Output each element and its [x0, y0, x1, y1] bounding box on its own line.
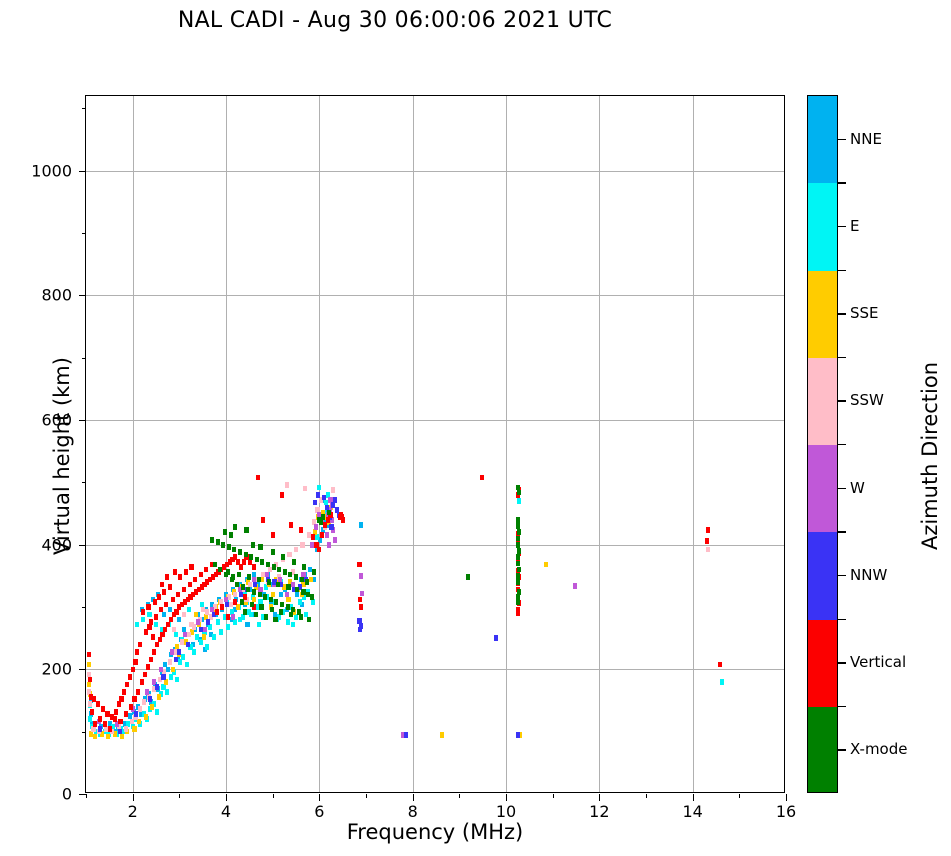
colorbar-segment-x-mode	[808, 707, 837, 793]
data-point-sse	[93, 734, 97, 740]
data-point-x-mode	[292, 559, 296, 565]
data-point-vertical	[199, 572, 203, 578]
data-point-x-mode	[241, 584, 245, 590]
data-point-ssw	[303, 486, 307, 492]
data-point-vertical	[105, 711, 109, 717]
data-point-vertical	[193, 577, 197, 583]
data-point-x-mode	[244, 527, 248, 533]
data-point-vertical	[480, 475, 484, 481]
data-point-w	[159, 667, 163, 673]
data-point-vertical	[140, 679, 144, 685]
data-point-x-mode	[264, 614, 268, 620]
data-point-nne	[177, 617, 181, 623]
data-point-x-mode	[232, 547, 236, 553]
data-point-w	[231, 614, 235, 620]
data-point-nnw	[206, 619, 210, 625]
colorbar-tick	[838, 662, 846, 663]
data-point-sse	[190, 629, 194, 635]
data-point-vertical	[178, 574, 182, 580]
data-point-e	[720, 679, 724, 685]
data-point-vertical	[138, 642, 142, 648]
data-point-ssw	[285, 482, 289, 488]
data-point-nne	[359, 522, 363, 528]
data-point-e	[291, 622, 295, 628]
data-point-ssw	[130, 719, 134, 725]
data-point-w	[183, 632, 187, 638]
data-point-nnw	[516, 732, 520, 738]
x-tick	[786, 794, 787, 801]
x-tick-minor	[553, 794, 554, 798]
data-point-x-mode	[246, 587, 250, 593]
data-point-vertical	[705, 538, 709, 544]
data-point-e	[219, 629, 223, 635]
data-point-x-mode	[233, 524, 237, 530]
x-tick-minor	[86, 794, 87, 798]
data-point-vertical	[93, 721, 97, 727]
colorbar-label-nne: NNE	[850, 130, 882, 148]
data-point-x-mode	[250, 602, 254, 608]
data-point-sse	[157, 694, 161, 700]
data-point-x-mode	[516, 517, 520, 523]
y-tick-label: 800	[41, 286, 72, 305]
data-point-vertical	[163, 627, 167, 633]
data-point-vertical	[239, 564, 243, 570]
data-point-e	[199, 639, 203, 645]
data-point-vertical	[171, 597, 175, 603]
data-point-vertical	[149, 657, 153, 663]
y-tick	[79, 545, 86, 546]
colorbar	[807, 95, 838, 793]
data-point-w	[203, 627, 207, 633]
data-point-ssw	[300, 542, 304, 548]
data-point-nne	[245, 622, 249, 628]
data-point-vertical	[166, 622, 170, 628]
data-point-ssw	[331, 487, 335, 493]
data-point-sse	[171, 667, 175, 673]
x-tick-label: 16	[776, 802, 796, 821]
x-tick-minor	[366, 794, 367, 798]
data-point-e	[216, 619, 220, 625]
data-point-w	[145, 689, 149, 695]
data-point-vertical	[153, 599, 157, 605]
data-point-vertical	[320, 532, 324, 538]
data-point-x-mode	[238, 549, 242, 555]
data-point-sse	[144, 714, 148, 720]
colorbar-label-e: E	[850, 217, 859, 235]
data-point-vertical	[165, 574, 169, 580]
data-point-vertical	[182, 587, 186, 593]
data-point-nne	[162, 612, 166, 618]
data-point-x-mode	[517, 548, 521, 554]
data-point-sse	[260, 577, 264, 583]
data-point-ssw	[287, 552, 291, 558]
colorbar-tick	[838, 400, 846, 401]
data-point-vertical	[289, 522, 293, 528]
data-point-nnw	[177, 649, 181, 655]
data-point-w	[170, 649, 174, 655]
colorbar-tick	[838, 749, 846, 750]
data-point-x-mode	[517, 567, 521, 573]
data-point-vertical	[152, 649, 156, 655]
data-point-nne	[166, 667, 170, 673]
data-point-x-mode	[270, 607, 274, 613]
data-point-x-mode	[267, 579, 271, 585]
x-axis-title: Frequency (MHz)	[85, 820, 785, 844]
data-point-x-mode	[310, 594, 314, 600]
data-point-e	[181, 654, 185, 660]
data-point-vertical	[154, 614, 158, 620]
data-point-ssw	[294, 547, 298, 553]
data-point-x-mode	[227, 544, 231, 550]
data-point-ssw	[182, 612, 186, 618]
data-point-x-mode	[516, 573, 520, 579]
x-tick	[133, 794, 134, 801]
data-point-e	[311, 599, 315, 605]
data-point-vertical	[358, 597, 362, 603]
data-point-sse	[87, 682, 91, 688]
colorbar-segment-e	[808, 183, 837, 270]
colorbar-tick	[838, 575, 846, 576]
data-point-vertical	[96, 701, 100, 707]
data-point-vertical	[141, 609, 145, 615]
data-point-nnw	[316, 492, 320, 498]
data-point-ssw	[172, 627, 176, 633]
data-point-x-mode	[235, 582, 239, 588]
data-point-nnw	[174, 657, 178, 663]
x-tick	[599, 794, 600, 801]
data-point-x-mode	[301, 589, 305, 595]
data-point-nnw	[359, 623, 363, 629]
y-tick-label: 1000	[31, 161, 72, 180]
data-point-x-mode	[516, 536, 520, 542]
data-point-x-mode	[252, 589, 256, 595]
data-point-vertical	[147, 624, 151, 630]
data-point-x-mode	[516, 554, 520, 560]
data-point-x-mode	[223, 529, 227, 535]
data-point-ssw	[104, 726, 108, 732]
data-point-nnw	[186, 642, 190, 648]
x-tick-label: 10	[496, 802, 516, 821]
colorbar-boundary-tick	[838, 357, 846, 358]
data-point-x-mode	[300, 577, 304, 583]
x-tick-minor	[739, 794, 740, 798]
data-point-vertical	[135, 649, 139, 655]
data-point-x-mode	[244, 552, 248, 558]
ionogram-figure: NAL CADI - Aug 30 06:00:06 2021 UTC 2468…	[0, 0, 951, 856]
data-point-vertical	[215, 609, 219, 615]
data-point-x-mode	[231, 574, 235, 580]
data-point-w	[333, 537, 337, 543]
data-point-x-mode	[299, 614, 303, 620]
data-point-vertical	[261, 517, 265, 523]
data-point-w	[310, 542, 314, 548]
data-point-vertical	[132, 696, 136, 702]
data-point-w	[285, 592, 289, 598]
page-title: NAL CADI - Aug 30 06:00:06 2021 UTC	[0, 8, 790, 33]
data-point-e	[141, 617, 145, 623]
data-point-e	[257, 622, 261, 628]
colorbar-segment-w	[808, 445, 837, 532]
colorbar-segment-nne	[808, 96, 837, 183]
data-point-x-mode	[273, 617, 277, 623]
x-tick-minor	[179, 794, 180, 798]
data-point-ssw	[189, 622, 193, 628]
data-point-vertical	[299, 527, 303, 533]
data-point-vertical	[359, 604, 363, 610]
data-point-vertical	[92, 696, 96, 702]
colorbar-boundary-tick	[838, 182, 846, 183]
data-point-sse	[309, 577, 313, 583]
data-point-x-mode	[213, 562, 217, 568]
data-point-x-mode	[272, 564, 276, 570]
data-point-vertical	[143, 672, 147, 678]
y-tick-minor	[82, 732, 86, 733]
data-point-e	[169, 674, 173, 680]
colorbar-boundary-tick	[838, 619, 846, 620]
data-point-x-mode	[288, 572, 292, 578]
data-point-x-mode	[312, 569, 316, 575]
data-point-ssw	[88, 701, 92, 707]
data-point-sse	[132, 726, 136, 732]
data-point-x-mode	[516, 523, 520, 529]
data-point-x-mode	[259, 604, 263, 610]
x-tick-label: 6	[314, 802, 324, 821]
data-point-vertical	[706, 527, 710, 533]
colorbar-tick	[838, 313, 846, 314]
data-point-vertical	[317, 547, 321, 553]
data-point-vertical	[118, 719, 122, 725]
data-point-vertical	[110, 714, 114, 720]
x-tick-minor	[459, 794, 460, 798]
data-point-e	[175, 677, 179, 683]
data-point-nne	[318, 537, 322, 543]
colorbar-boundary-tick	[838, 531, 846, 532]
data-point-nnw	[253, 582, 257, 588]
data-point-e	[286, 619, 290, 625]
data-point-vertical	[125, 682, 129, 688]
data-point-vertical	[131, 667, 135, 673]
data-point-vertical	[88, 677, 92, 683]
data-point-vertical	[164, 602, 168, 608]
data-point-vertical	[133, 659, 137, 665]
data-point-nnw	[329, 524, 333, 530]
data-point-x-mode	[226, 569, 230, 575]
x-tick	[226, 794, 227, 801]
x-tick	[506, 794, 507, 801]
y-tick-minor	[82, 108, 86, 109]
colorbar-label-ssw: SSW	[850, 391, 884, 409]
data-point-x-mode	[237, 572, 241, 578]
data-point-vertical	[341, 517, 345, 523]
colorbar-tick	[838, 488, 846, 489]
data-point-nnw	[225, 602, 229, 608]
data-point-vertical	[117, 701, 121, 707]
data-point-x-mode	[277, 567, 281, 573]
data-point-vertical	[114, 709, 118, 715]
data-point-nne	[295, 592, 299, 598]
data-point-nnw	[404, 732, 408, 738]
data-point-e	[205, 644, 209, 650]
data-point-nnw	[494, 635, 498, 641]
data-point-x-mode	[243, 609, 247, 615]
data-point-sse	[202, 634, 206, 640]
data-point-sse	[236, 604, 240, 610]
data-point-vertical	[357, 562, 361, 568]
data-point-vertical	[173, 569, 177, 575]
y-axis-title: Virtual height (km)	[50, 306, 74, 606]
data-point-vertical	[169, 617, 173, 623]
data-point-vertical	[323, 522, 327, 528]
data-point-vertical	[204, 567, 208, 573]
data-point-sse	[544, 562, 548, 568]
y-tick-label: 200	[41, 660, 72, 679]
y-tick	[79, 420, 86, 421]
data-point-x-mode	[319, 519, 323, 525]
data-point-vertical	[146, 664, 150, 670]
data-point-vertical	[157, 594, 161, 600]
data-point-x-mode	[249, 554, 253, 560]
data-point-sse	[150, 704, 154, 710]
x-tick	[693, 794, 694, 801]
data-point-vertical	[174, 609, 178, 615]
data-point-e	[155, 709, 159, 715]
data-point-nnw	[322, 495, 326, 501]
data-point-e	[174, 632, 178, 638]
plot-axes-area: 24681012141602004006008001000	[85, 95, 785, 793]
data-point-ssw	[706, 547, 710, 553]
data-point-e	[178, 659, 182, 665]
data-point-e	[135, 622, 139, 628]
data-point-vertical	[160, 632, 164, 638]
data-point-ssw	[124, 726, 128, 732]
data-point-vertical	[233, 599, 237, 605]
x-tick-minor	[646, 794, 647, 798]
data-point-e	[294, 614, 298, 620]
colorbar-tick	[838, 226, 846, 227]
data-point-ssw	[187, 632, 191, 638]
data-point-w	[196, 619, 200, 625]
data-point-w	[573, 583, 577, 589]
data-point-e	[238, 617, 242, 623]
data-point-vertical	[122, 689, 126, 695]
data-point-x-mode	[218, 567, 222, 573]
data-point-x-mode	[280, 602, 284, 608]
colorbar-title: Azimuth Direction	[918, 306, 942, 606]
data-point-x-mode	[274, 599, 278, 605]
data-point-vertical	[124, 711, 128, 717]
data-point-ssw	[229, 602, 233, 608]
data-point-sse	[106, 734, 110, 740]
data-point-sse	[87, 662, 91, 668]
data-point-vertical	[516, 610, 520, 616]
data-point-vertical	[101, 706, 105, 712]
data-point-ssw	[180, 639, 184, 645]
data-point-e	[192, 649, 196, 655]
colorbar-segment-nnw	[808, 532, 837, 619]
data-point-x-mode	[327, 510, 331, 516]
data-point-e	[298, 599, 302, 605]
data-point-nnw	[199, 627, 203, 633]
data-point-vertical	[168, 584, 172, 590]
data-point-vertical	[311, 534, 315, 540]
x-tick	[413, 794, 414, 801]
y-tick	[79, 295, 86, 296]
data-point-x-mode	[247, 574, 251, 580]
data-point-vertical	[158, 637, 162, 643]
y-tick-minor	[82, 607, 86, 608]
data-point-ssw	[168, 659, 172, 665]
data-point-e	[154, 622, 158, 628]
x-tick-label: 4	[221, 802, 231, 821]
data-point-vertical	[280, 492, 284, 498]
colorbar-label-w: W	[850, 479, 865, 497]
data-point-x-mode	[263, 594, 267, 600]
y-tick-minor	[82, 233, 86, 234]
data-point-x-mode	[283, 569, 287, 575]
data-point-ssw	[233, 592, 237, 598]
data-point-x-mode	[258, 544, 262, 550]
data-point-x-mode	[255, 557, 259, 563]
data-point-nnw	[313, 500, 317, 506]
data-point-x-mode	[302, 564, 306, 570]
scatter-data-layer	[86, 96, 784, 792]
x-tick-label: 12	[589, 802, 609, 821]
data-point-vertical	[103, 721, 107, 727]
data-point-x-mode	[254, 612, 258, 618]
data-point-vertical	[160, 582, 164, 588]
colorbar-label-vertical: Vertical	[850, 653, 906, 671]
data-point-ssw	[142, 699, 146, 705]
data-point-nnw	[98, 726, 102, 732]
data-point-vertical	[108, 726, 112, 732]
data-point-x-mode	[466, 574, 470, 580]
data-point-x-mode	[307, 617, 311, 623]
data-point-vertical	[128, 674, 132, 680]
data-point-e	[233, 619, 237, 625]
data-point-nnw	[155, 684, 159, 690]
data-point-x-mode	[516, 599, 520, 605]
data-point-x-mode	[257, 577, 261, 583]
data-point-nnw	[333, 497, 337, 503]
data-point-vertical	[252, 564, 256, 570]
data-point-x-mode	[216, 539, 220, 545]
colorbar-segment-vertical	[808, 620, 837, 707]
data-point-e	[517, 498, 521, 504]
data-point-ssw	[91, 726, 95, 732]
data-point-x-mode	[260, 559, 264, 565]
data-point-e	[314, 534, 318, 540]
data-point-x-mode	[251, 542, 255, 548]
colorbar-boundary-tick	[838, 444, 846, 445]
data-point-x-mode	[305, 579, 309, 585]
data-point-vertical	[151, 634, 155, 640]
data-point-vertical	[159, 607, 163, 613]
data-point-vertical	[242, 559, 246, 565]
data-point-x-mode	[210, 537, 214, 543]
data-point-x-mode	[269, 597, 273, 603]
data-point-x-mode	[321, 514, 325, 520]
colorbar-segment-sse	[808, 271, 837, 358]
data-point-x-mode	[281, 554, 285, 560]
x-tick-minor	[273, 794, 274, 798]
data-point-x-mode	[240, 599, 244, 605]
data-point-vertical	[144, 629, 148, 635]
x-tick-label: 8	[408, 802, 418, 821]
data-point-vertical	[146, 604, 150, 610]
y-tick-minor	[82, 482, 86, 483]
data-point-x-mode	[516, 542, 520, 548]
data-point-e	[165, 689, 169, 695]
